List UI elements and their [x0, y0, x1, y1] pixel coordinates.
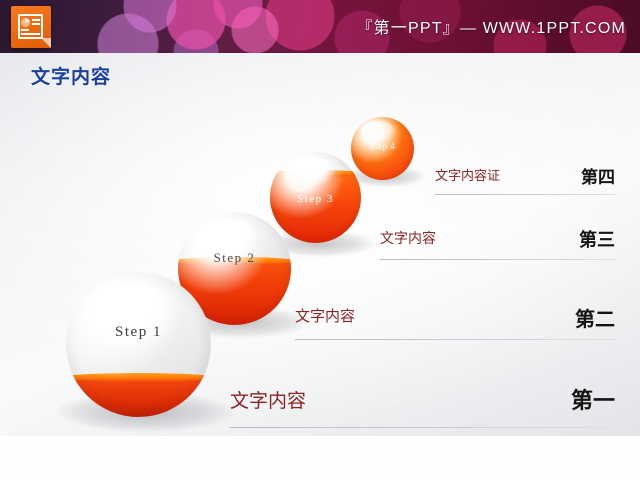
list-item-divider	[230, 427, 615, 428]
page-footer: 第一PPT HTTP://WWW.1PPT.COM	[0, 436, 640, 480]
list-item-rank: 第三	[579, 226, 615, 252]
sphere-fill-3	[270, 174, 361, 243]
sphere-label-4: Step 4	[351, 141, 414, 151]
list-item-rank: 第四	[581, 163, 615, 188]
slide: 『第一PPT』— WWW.1PPT.COM 文字内容 Step 4 Step 3…	[0, 0, 640, 480]
powerpoint-icon-line	[21, 29, 29, 31]
sphere-label-1: Step 1	[66, 324, 211, 341]
powerpoint-icon-line	[32, 19, 40, 21]
list-item-label: 文字内容证	[435, 165, 500, 184]
page-title: 文字内容	[31, 62, 111, 89]
powerpoint-icon-frame	[18, 14, 43, 39]
sphere-highlight	[361, 121, 396, 141]
list-item-rank: 第一	[571, 383, 615, 415]
sphere-fill-surface	[270, 170, 361, 177]
sphere-fill-surface	[66, 373, 211, 382]
powerpoint-icon-line	[32, 23, 40, 25]
powerpoint-icon-pie	[21, 18, 30, 27]
list-item-divider	[295, 339, 615, 340]
list-item-label: 文字内容	[295, 305, 355, 326]
list-item-divider	[435, 194, 615, 195]
page-header: 『第一PPT』— WWW.1PPT.COM	[0, 0, 640, 53]
header-brand-text: 『第一PPT』— WWW.1PPT.COM	[356, 14, 626, 38]
sphere-step-1[interactable]: Step 1	[66, 272, 211, 417]
sphere-step-3[interactable]: Step 3	[270, 152, 361, 243]
sphere-label-3: Step 3	[270, 193, 361, 205]
sphere-label-2: Step 2	[178, 250, 291, 266]
powerpoint-icon	[11, 6, 51, 48]
powerpoint-icon-line	[21, 33, 40, 35]
sphere-fill-1	[66, 379, 211, 417]
powerpoint-icon-fold	[41, 38, 51, 48]
list-item-divider	[380, 259, 615, 260]
list-item-label: 文字内容	[380, 228, 436, 248]
list-item-rank: 第二	[575, 303, 615, 332]
sphere-step-4[interactable]: Step 4	[351, 117, 414, 180]
list-item-label: 文字内容	[230, 386, 306, 413]
